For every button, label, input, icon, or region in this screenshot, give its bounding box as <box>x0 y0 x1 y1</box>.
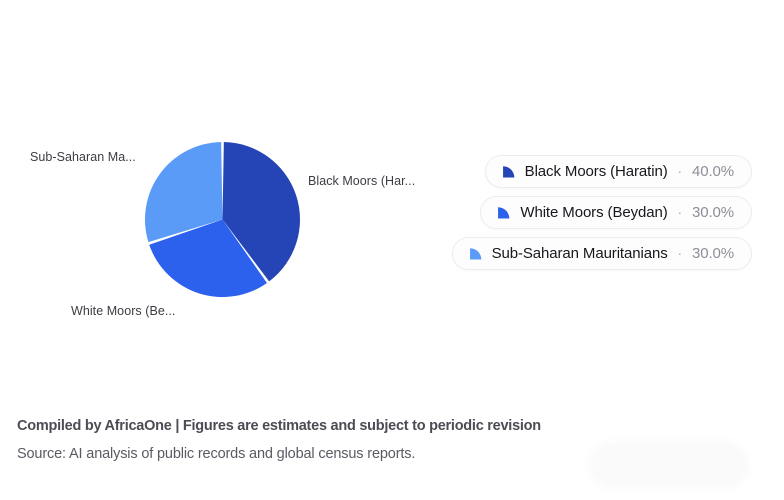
pie-chart <box>145 142 300 297</box>
footer: Compiled by AfricaOne | Figures are esti… <box>17 418 757 462</box>
footer-source: Source: AI analysis of public records an… <box>17 446 757 462</box>
pie-chart-area: Black Moors (Har... White Moors (Be... S… <box>0 0 784 390</box>
legend-separator: · <box>678 164 682 179</box>
legend-item-black-moors[interactable]: Black Moors (Haratin) · 40.0% <box>485 155 752 188</box>
legend-item-white-moors[interactable]: White Moors (Beydan) · 30.0% <box>480 196 752 229</box>
pie-label-white-moors: White Moors (Be... <box>71 304 175 318</box>
legend-value: 30.0% <box>692 245 734 262</box>
legend-separator: · <box>678 205 682 220</box>
chart-legend: Black Moors (Haratin) · 40.0% White Moor… <box>452 155 752 270</box>
legend-label: Sub-Saharan Mauritanians <box>492 245 668 262</box>
pie-label-sub-saharan: Sub-Saharan Ma... <box>30 150 136 164</box>
pie-label-black-moors: Black Moors (Har... <box>308 174 415 188</box>
legend-label: Black Moors (Haratin) <box>525 163 668 180</box>
footer-attribution: Compiled by AfricaOne | Figures are esti… <box>17 418 757 434</box>
legend-item-sub-saharan[interactable]: Sub-Saharan Mauritanians · 30.0% <box>452 237 752 270</box>
pie-wedge-icon <box>501 164 516 179</box>
pie-wedge-icon <box>468 246 483 261</box>
legend-value: 40.0% <box>692 163 734 180</box>
pie-chart-svg <box>145 142 300 297</box>
legend-label: White Moors (Beydan) <box>520 204 667 221</box>
legend-separator: · <box>678 246 682 261</box>
pie-wedge-icon <box>496 205 511 220</box>
legend-value: 30.0% <box>692 204 734 221</box>
